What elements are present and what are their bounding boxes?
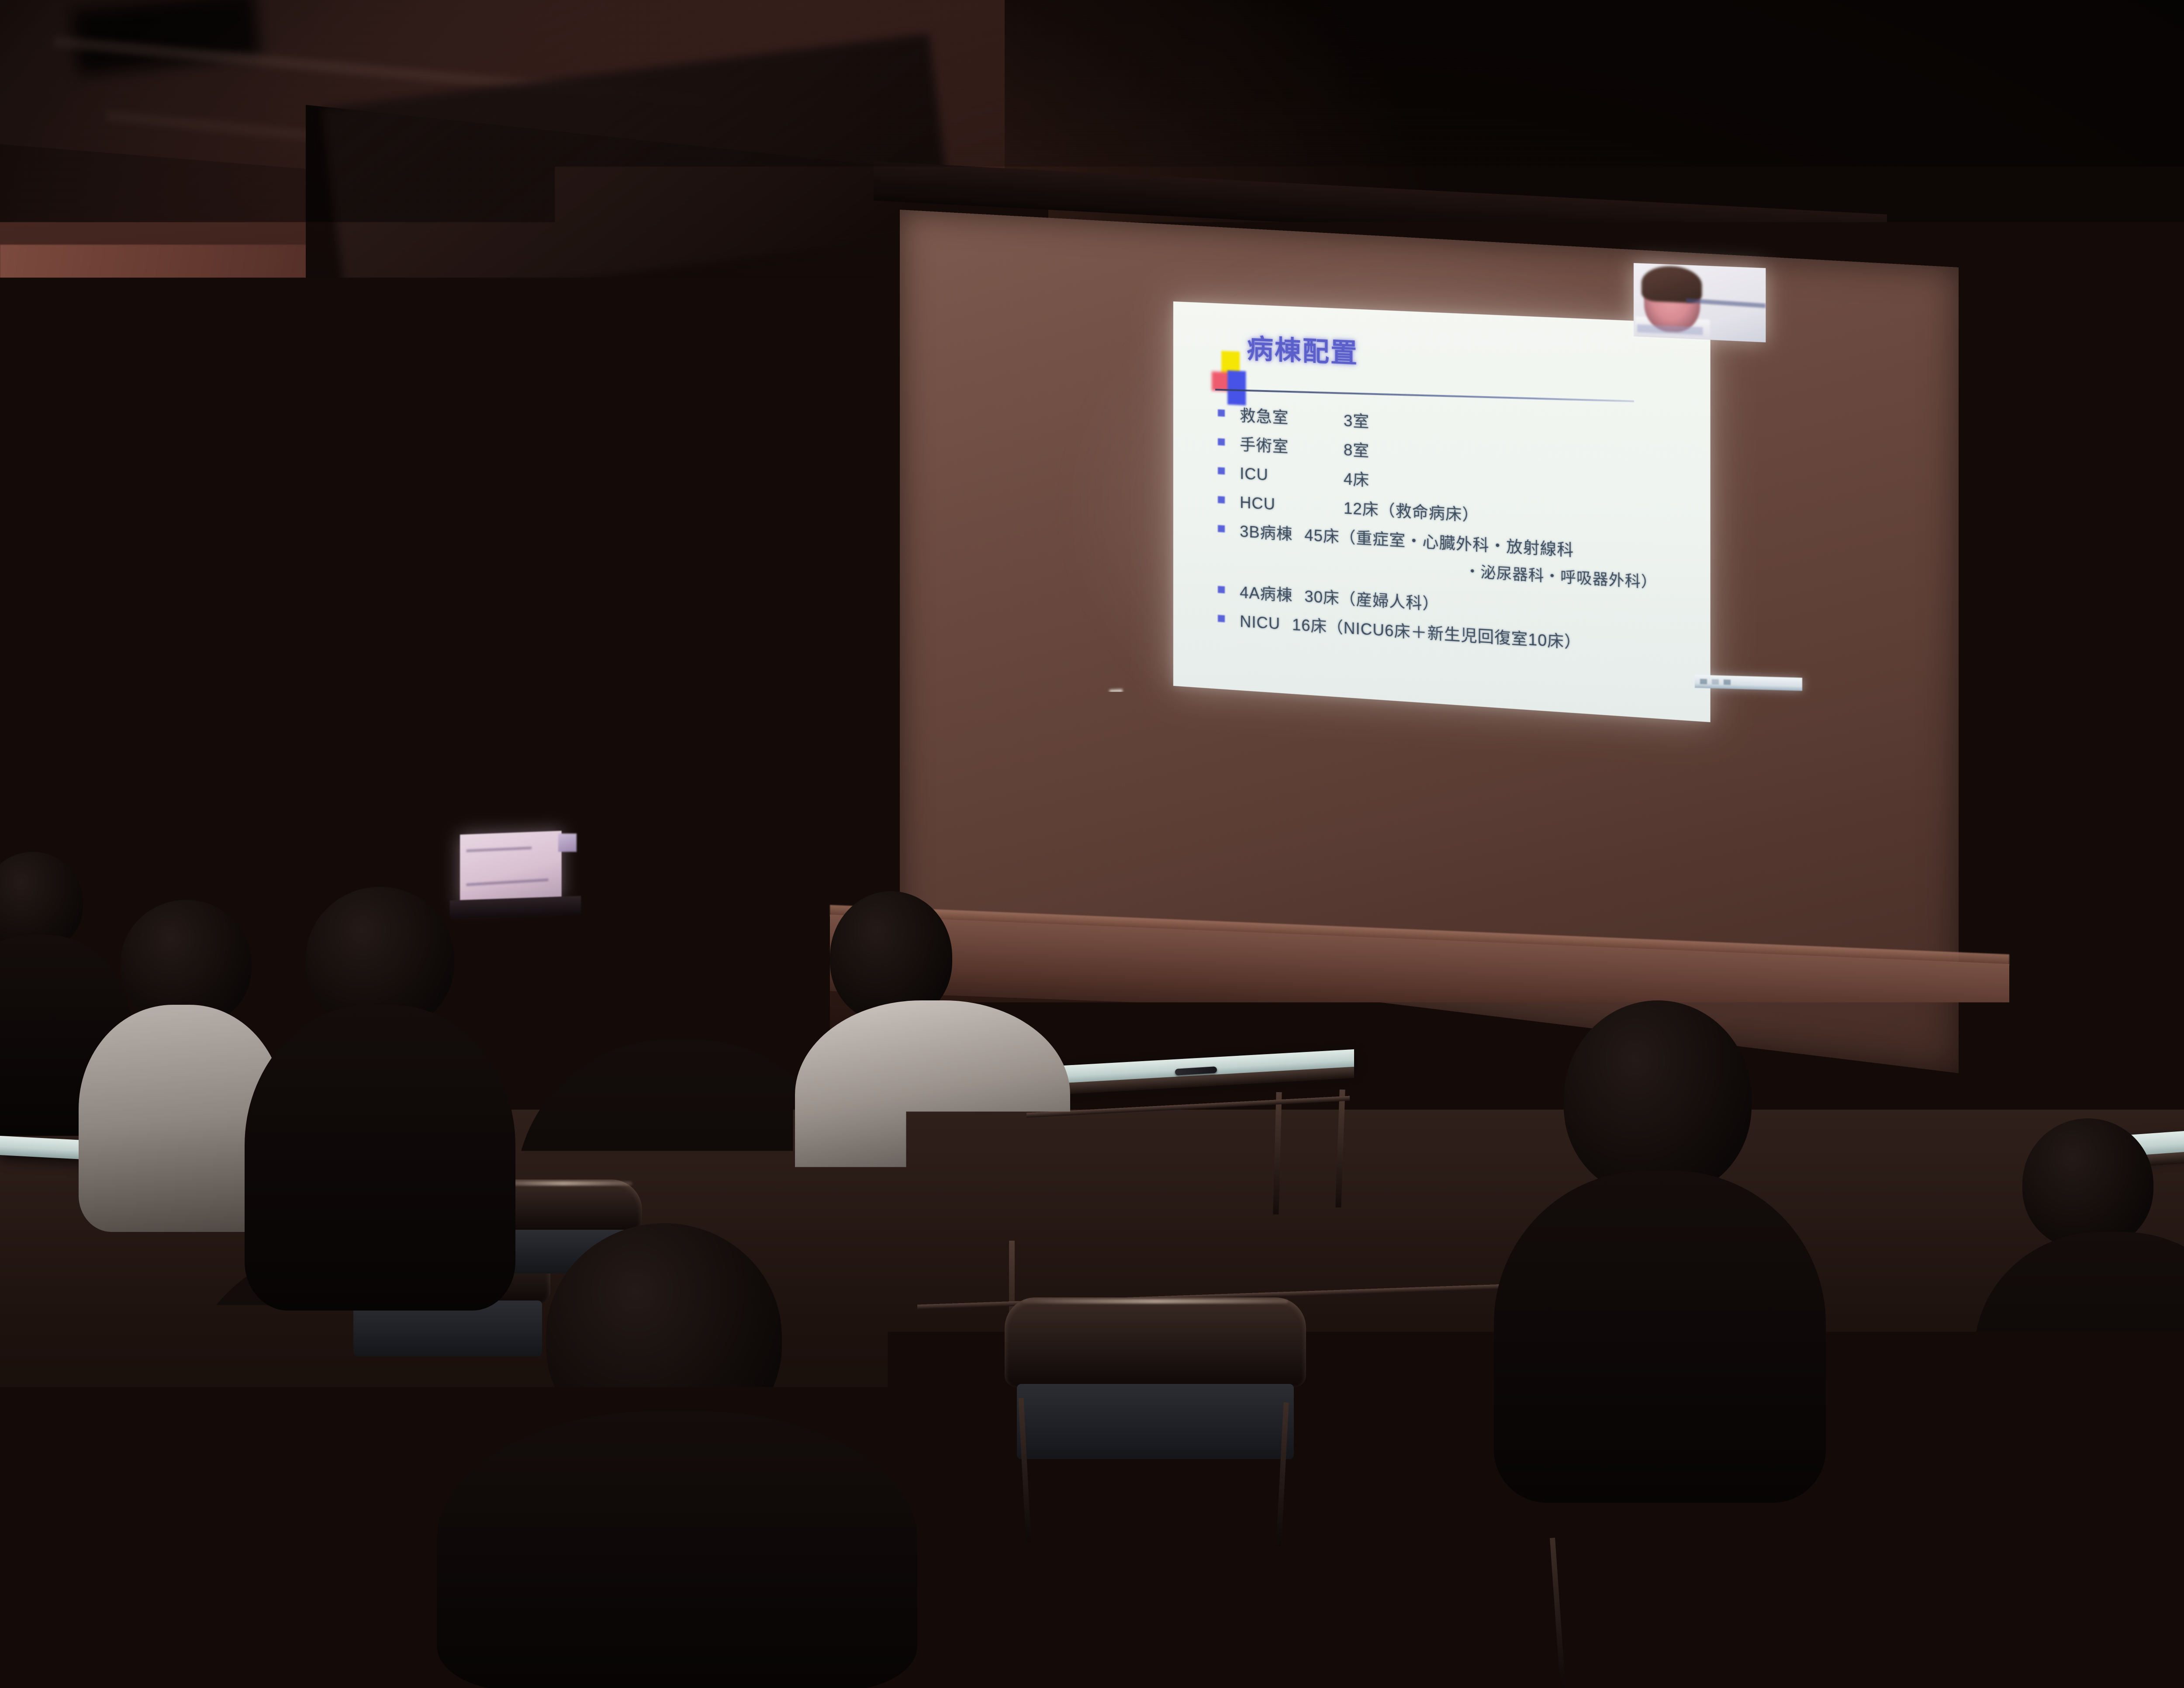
laptop-side-panel bbox=[558, 834, 577, 852]
bullet-square-icon bbox=[1218, 496, 1225, 504]
attendee-far-right bbox=[2022, 1118, 2153, 1249]
attendee-far-right-body bbox=[1974, 1232, 2184, 1494]
presenter-laptop-screen[interactable] bbox=[460, 831, 562, 904]
attendee-head bbox=[1564, 1000, 1752, 1197]
lecture-hall-photo: 病棟配置 救急室 3室 手術室 8室 ICU 4床 HCU 12床（救命 bbox=[0, 0, 2184, 1688]
attendee-body bbox=[1494, 1171, 1826, 1503]
paper-crease bbox=[1046, 1569, 1142, 1615]
bullet-square-icon bbox=[1218, 467, 1225, 474]
laptop-screen-line bbox=[466, 847, 531, 852]
camera-button-icon[interactable] bbox=[1712, 679, 1719, 685]
slide-title: 病棟配置 bbox=[1247, 327, 1358, 370]
presenter-video-window[interactable] bbox=[1634, 263, 1766, 342]
chair-seat bbox=[1531, 1516, 1885, 1603]
slide-title-divider bbox=[1215, 389, 1634, 402]
bullet-value: 30床（産婦人科） bbox=[1304, 587, 1439, 613]
bullet-label: 手術室 bbox=[1240, 432, 1341, 460]
attendee-body bbox=[437, 1411, 917, 1688]
share-button-icon[interactable] bbox=[1724, 679, 1731, 685]
mic-button-icon[interactable] bbox=[1700, 679, 1707, 684]
bullet-value: 8室 bbox=[1344, 441, 1369, 460]
speaker-cone bbox=[130, 406, 250, 515]
blue-folder[interactable] bbox=[1149, 1542, 1337, 1675]
bullet-value: 12床（救命病床） bbox=[1344, 499, 1479, 525]
bullet-square-icon bbox=[1218, 586, 1225, 593]
bullet-value: 3室 bbox=[1344, 412, 1369, 431]
chair-center[interactable] bbox=[1005, 1297, 1306, 1485]
bullet-label: 3B病棟 bbox=[1240, 519, 1292, 545]
bullet-square-icon bbox=[1218, 438, 1225, 446]
attendee-center-left-body bbox=[245, 1005, 515, 1311]
bullet-square-icon bbox=[1218, 409, 1225, 417]
attendee-head bbox=[2022, 1118, 2153, 1249]
attendee-body bbox=[245, 1005, 515, 1311]
presenter-hair bbox=[1641, 265, 1702, 304]
bullet-label: 救急室 bbox=[1240, 403, 1341, 431]
bullet-label: 4A病棟 bbox=[1240, 580, 1292, 606]
attendee-body bbox=[1974, 1232, 2184, 1494]
bullet-label: HCU bbox=[1240, 493, 1341, 517]
folder-tab bbox=[1167, 1646, 1220, 1664]
bullet-value: 4床 bbox=[1344, 470, 1369, 490]
bullet-square-icon bbox=[1218, 615, 1225, 622]
chair-back bbox=[1005, 1297, 1306, 1387]
projected-slide: 病棟配置 救急室 3室 手術室 8室 ICU 4床 HCU 12床（救命 bbox=[1173, 301, 1711, 722]
chair-seat bbox=[1017, 1384, 1294, 1459]
attendee-center-body bbox=[437, 1411, 917, 1688]
logo-blue-block bbox=[1227, 370, 1246, 405]
bullet-label: ICU bbox=[1240, 464, 1341, 488]
attendee-right bbox=[1564, 1000, 1752, 1197]
bullet-label: NICU bbox=[1240, 612, 1280, 633]
slide-bullet-list: 救急室 3室 手術室 8室 ICU 4床 HCU 12床（救命病床） 3B病棟 bbox=[1215, 402, 1708, 668]
laptop-screen-line bbox=[466, 879, 548, 886]
bullet-square-icon bbox=[1218, 525, 1225, 533]
screen-light-speck bbox=[1109, 689, 1123, 698]
microphone-head-icon bbox=[252, 881, 272, 897]
attendee-body bbox=[795, 1000, 1070, 1206]
attendee-right-body bbox=[1494, 1171, 1826, 1503]
attendee-mid-right-body bbox=[795, 1000, 1070, 1206]
